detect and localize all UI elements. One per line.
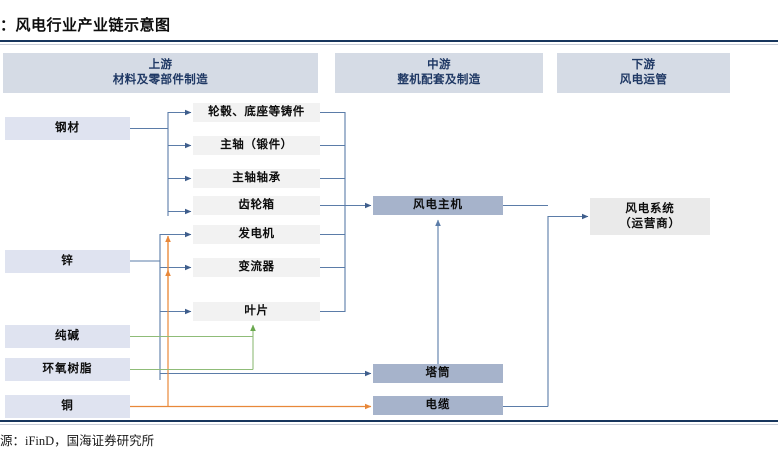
material-box-zinc[interactable]: 锌 <box>5 250 130 273</box>
material-label-zinc: 锌 <box>61 254 74 269</box>
component-label-blade: 叶片 <box>244 304 268 319</box>
component-box-castings[interactable]: 轮毂、底座等铸件 <box>193 103 320 122</box>
component-label-gearbox: 齿轮箱 <box>238 198 274 213</box>
midstream-box-cable[interactable]: 电缆 <box>373 396 503 415</box>
footer-divider-thin <box>0 424 778 425</box>
footer-divider-thick <box>0 420 778 422</box>
component-label-generator: 发电机 <box>238 227 274 242</box>
header-downstream: 下游风电运管 <box>557 53 730 93</box>
component-box-gearbox[interactable]: 齿轮箱 <box>193 196 320 215</box>
component-box-generator[interactable]: 发电机 <box>193 225 320 244</box>
material-label-epoxy-resin: 环氧树脂 <box>43 362 93 377</box>
header-downstream-text: 下游风电运管 <box>620 58 668 87</box>
material-label-copper: 铜 <box>61 399 74 414</box>
component-label-main-bearing: 主轴轴承 <box>232 171 280 186</box>
component-label-converter: 变流器 <box>238 260 274 275</box>
downstream-box-wind-system[interactable]: 风电系统 （运营商） <box>590 198 710 235</box>
component-box-main-bearing[interactable]: 主轴轴承 <box>193 169 320 188</box>
header-upstream-line1: 上游 <box>149 59 173 71</box>
midstream-box-main-unit[interactable]: 风电主机 <box>373 196 503 215</box>
midstream-label-main-unit: 风电主机 <box>413 198 463 213</box>
material-label-soda-ash: 纯碱 <box>55 329 80 344</box>
material-box-copper[interactable]: 铜 <box>5 395 130 418</box>
header-upstream-text: 上游材料及零部件制造 <box>113 58 208 87</box>
material-label-steel: 钢材 <box>55 121 80 136</box>
resin-connector-group <box>130 325 253 370</box>
midstream-box-tower[interactable]: 塔筒 <box>373 364 503 383</box>
header-midstream-line2: 整机配套及制造 <box>397 74 480 86</box>
material-box-soda-ash[interactable]: 纯碱 <box>5 325 130 348</box>
midstream-label-cable: 电缆 <box>426 398 451 413</box>
component-label-main-shaft: 主轴（锻件） <box>220 138 293 153</box>
material-box-steel[interactable]: 钢材 <box>5 117 130 140</box>
header-upstream: 上游材料及零部件制造 <box>3 53 318 93</box>
steel-connector-group <box>130 112 191 216</box>
component-collector-group <box>320 112 371 312</box>
downstream-label-wind-system: 风电系统 （运营商） <box>619 202 681 231</box>
material-box-epoxy-resin[interactable]: 环氧树脂 <box>5 358 130 381</box>
component-box-main-shaft[interactable]: 主轴（锻件） <box>193 136 320 155</box>
header-midstream-line1: 中游 <box>427 59 451 71</box>
header-downstream-line1: 下游 <box>632 59 656 71</box>
header-upstream-line2: 材料及零部件制造 <box>113 74 208 86</box>
cable-to-system-group <box>503 206 588 407</box>
header-midstream-text: 中游整机配套及制造 <box>397 58 480 87</box>
header-downstream-line2: 风电运管 <box>620 74 668 86</box>
component-label-castings: 轮毂、底座等铸件 <box>208 105 305 120</box>
midstream-label-tower: 塔筒 <box>426 366 451 381</box>
component-box-blade[interactable]: 叶片 <box>193 302 320 321</box>
component-box-converter[interactable]: 变流器 <box>193 258 320 277</box>
figure-source: 源：iFinD，国海证券研究所 <box>0 430 154 449</box>
header-midstream: 中游整机配套及制造 <box>335 53 543 93</box>
